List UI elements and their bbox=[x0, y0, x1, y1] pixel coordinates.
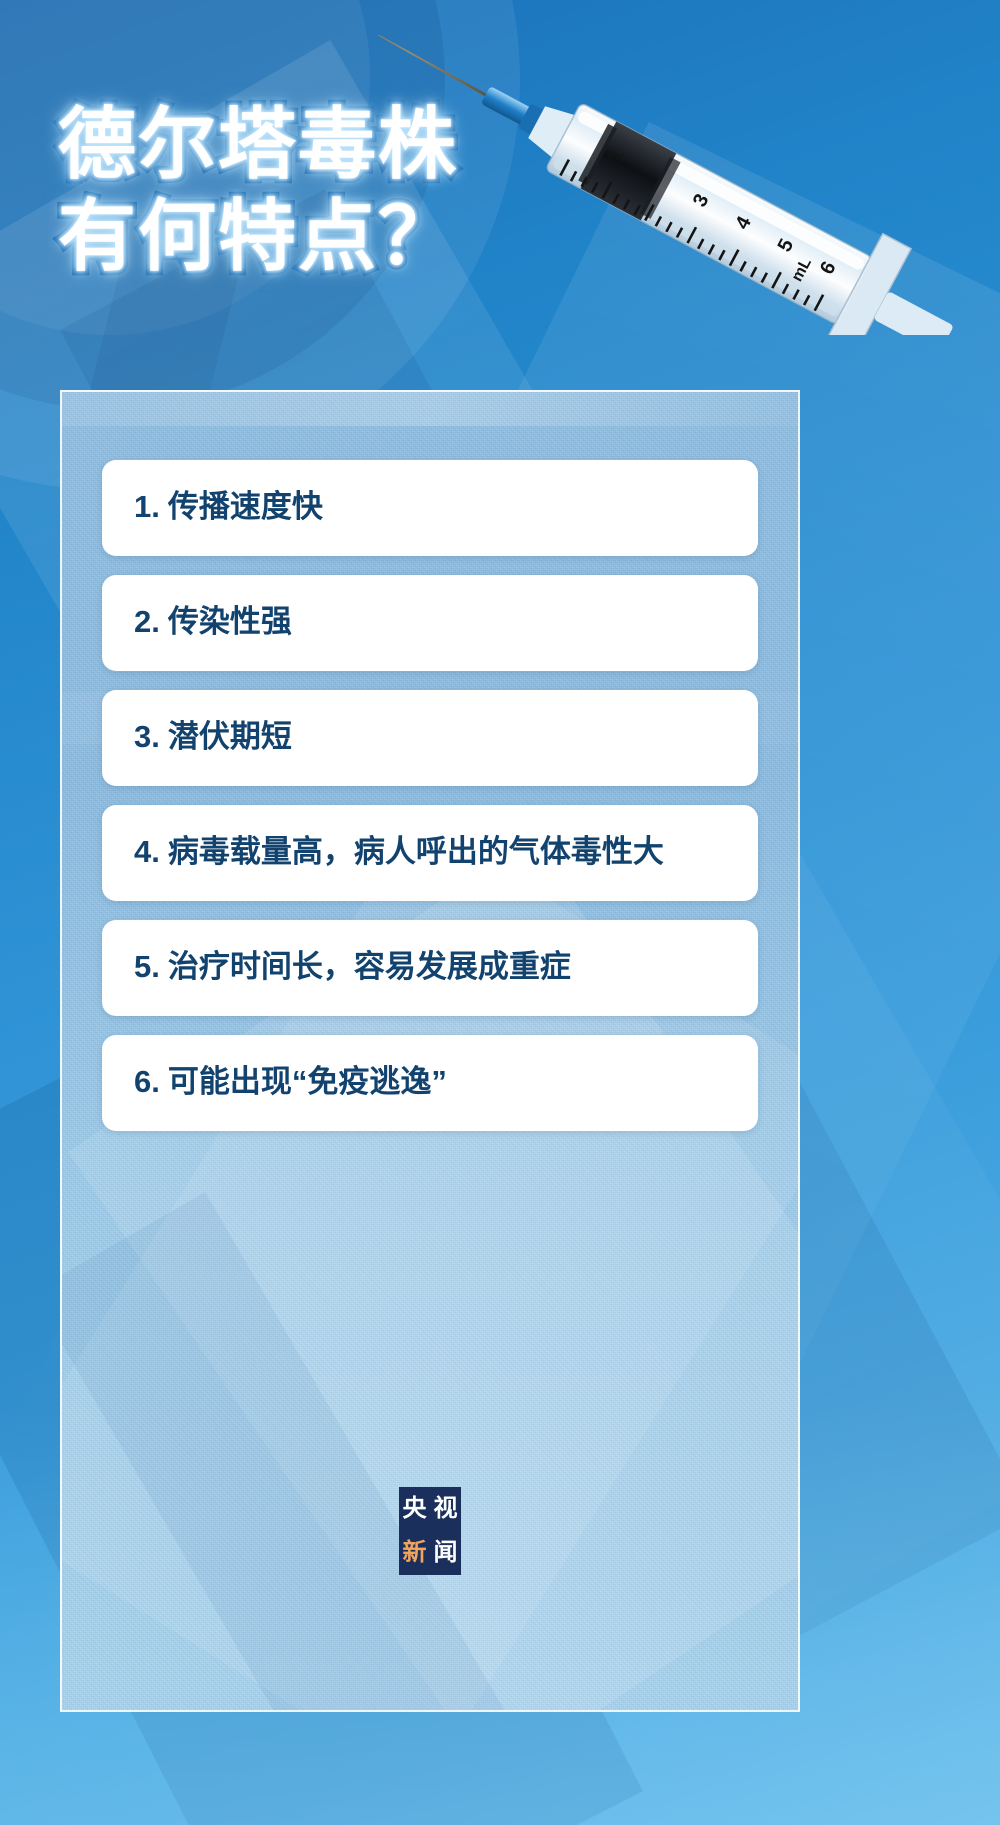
list-item-text: 可能出现“免疫逃逸” bbox=[168, 1061, 447, 1104]
poster-root: 1 3 4 5 6 mL 德尔塔毒株 有何特点？ bbox=[0, 0, 1000, 1825]
list-item-text: 传播速度快 bbox=[168, 486, 323, 529]
poster-title: 德尔塔毒株 有何特点？ bbox=[58, 105, 758, 275]
list-item[interactable]: 3. 潜伏期短 bbox=[102, 690, 758, 786]
list-item-number: 1. bbox=[134, 486, 160, 529]
list-item-text: 传染性强 bbox=[168, 601, 292, 644]
title-line-1: 德尔塔毒株 bbox=[58, 105, 758, 183]
list-item-number: 4. bbox=[134, 831, 160, 874]
list-item[interactable]: 6. 可能出现“免疫逃逸” bbox=[102, 1035, 758, 1131]
list-item[interactable]: 2. 传染性强 bbox=[102, 575, 758, 671]
list-item[interactable]: 1. 传播速度快 bbox=[102, 460, 758, 556]
list-item-number: 3. bbox=[134, 716, 160, 759]
list-item-text: 潜伏期短 bbox=[168, 716, 292, 759]
title-line-2: 有何特点？ bbox=[58, 197, 758, 275]
list-item[interactable]: 4. 病毒载量高，病人呼出的气体毒性大 bbox=[102, 805, 758, 901]
list-item-number: 5. bbox=[134, 946, 160, 989]
panel-band-top bbox=[62, 392, 798, 426]
list-item-number: 6. bbox=[134, 1061, 160, 1104]
logo-char-shi: 视 bbox=[434, 1497, 458, 1521]
list-item-text: 病毒载量高，病人呼出的气体毒性大 bbox=[168, 831, 664, 874]
logo-char-xin: 新 bbox=[403, 1541, 427, 1565]
list-item[interactable]: 5. 治疗时间长，容易发展成重症 bbox=[102, 920, 758, 1016]
cctv-news-logo: 央 视 新 闻 bbox=[399, 1487, 461, 1575]
feature-list: 1. 传播速度快 2. 传染性强 3. 潜伏期短 4. 病毒载量高，病人呼出的气… bbox=[102, 460, 758, 1131]
content-panel: 1. 传播速度快 2. 传染性强 3. 潜伏期短 4. 病毒载量高，病人呼出的气… bbox=[60, 390, 800, 1712]
list-item-text: 治疗时间长，容易发展成重症 bbox=[168, 946, 571, 989]
logo-char-yang: 央 bbox=[403, 1497, 427, 1521]
list-item-number: 2. bbox=[134, 601, 160, 644]
logo-char-wen: 闻 bbox=[434, 1541, 458, 1565]
